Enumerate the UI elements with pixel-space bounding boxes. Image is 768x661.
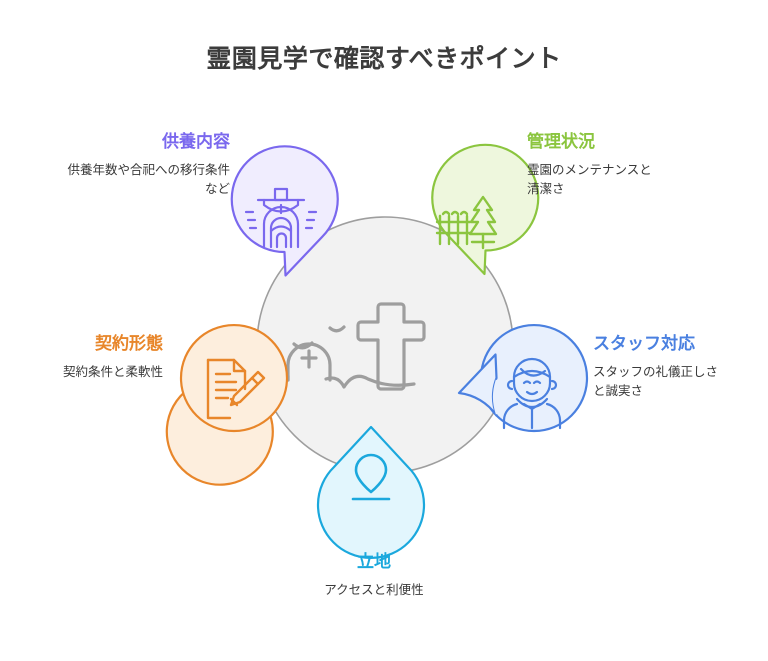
pin-keiyaku[interactable] [167, 325, 287, 485]
label-staff: スタッフ対応 スタッフの礼儀正しさ と誠実さ [593, 333, 763, 402]
label-kanri: 管理状況 霊園のメンテナンスと 清潔さ [527, 131, 757, 200]
label-ricchi-title: 立地 [259, 551, 489, 573]
label-kuyou-desc: 供養年数や合祀への移行条件 など [8, 161, 230, 200]
label-keiyaku-title: 契約形態 [8, 333, 163, 355]
label-kanri-desc: 霊園のメンテナンスと 清潔さ [527, 161, 757, 200]
label-ricchi: 立地 アクセスと利便性 [259, 551, 489, 600]
label-kuyou-desc-line-1: 供養年数や合祀への移行条件 [8, 161, 230, 180]
label-keiyaku-desc: 契約条件と柔軟性 [8, 363, 163, 382]
label-staff-title: スタッフ対応 [593, 333, 763, 355]
label-staff-desc-line-2: と誠実さ [593, 382, 763, 401]
label-kuyou: 供養内容 供養年数や合祀への移行条件 など [8, 131, 230, 200]
label-keiyaku-desc-line-1: 契約条件と柔軟性 [8, 363, 163, 382]
label-keiyaku: 契約形態 契約条件と柔軟性 [8, 333, 163, 382]
label-kuyou-title: 供養内容 [8, 131, 230, 153]
label-staff-desc: スタッフの礼儀正しさ と誠実さ [593, 363, 763, 402]
label-kanri-desc-line-2: 清潔さ [527, 180, 757, 199]
label-ricchi-desc-line-1: アクセスと利便性 [259, 581, 489, 600]
label-kuyou-desc-line-2: など [8, 180, 230, 199]
label-kanri-desc-line-1: 霊園のメンテナンスと [527, 161, 757, 180]
label-staff-desc-line-1: スタッフの礼儀正しさ [593, 363, 763, 382]
label-ricchi-desc: アクセスと利便性 [259, 581, 489, 600]
label-kanri-title: 管理状況 [527, 131, 757, 153]
